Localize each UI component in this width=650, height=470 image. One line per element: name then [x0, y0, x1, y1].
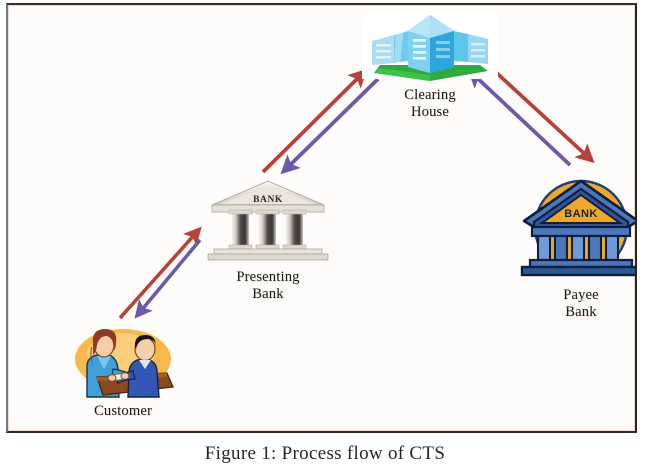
node-clearing-house: Clearing House [360, 11, 500, 121]
label-line-1: Customer [63, 403, 183, 420]
classical-bank-icon: BANK [516, 175, 637, 283]
figure-caption: Figure 1: Process flow of CTS [0, 443, 650, 465]
node-label-customer: Customer [63, 403, 183, 420]
pediment-text-payee: BANK [564, 208, 597, 220]
figure-frame: Clearing House [6, 3, 637, 433]
pediment-text-presenting: BANK [253, 195, 283, 205]
label-line-2: House [360, 104, 500, 121]
node-label-payee-bank: Payee Bank [516, 287, 637, 321]
arrow-customer-to-presenting-bank [120, 233, 196, 318]
label-line-1: Clearing [360, 87, 500, 104]
node-presenting-bank: BANK [204, 177, 332, 303]
node-label-presenting-bank: Presenting Bank [204, 269, 332, 303]
label-line-2: Bank [516, 304, 637, 321]
office-building-icon [360, 11, 500, 83]
two-people-at-desk-icon [63, 323, 183, 399]
arrow-presenting-bank-to-clearing-house [263, 75, 361, 172]
arrow-clearing-house-to-payee-bank [488, 65, 588, 157]
node-payee-bank: BANK Payee Bank [516, 175, 637, 321]
label-line-1: Presenting [204, 269, 332, 286]
label-line-1: Payee [516, 287, 637, 304]
arrow-presenting-bank-to-customer [140, 240, 200, 312]
node-label-clearing-house: Clearing House [360, 87, 500, 121]
label-line-2: Bank [204, 286, 332, 303]
classical-bank-icon: BANK [204, 177, 332, 263]
node-customer: Customer [63, 323, 183, 420]
